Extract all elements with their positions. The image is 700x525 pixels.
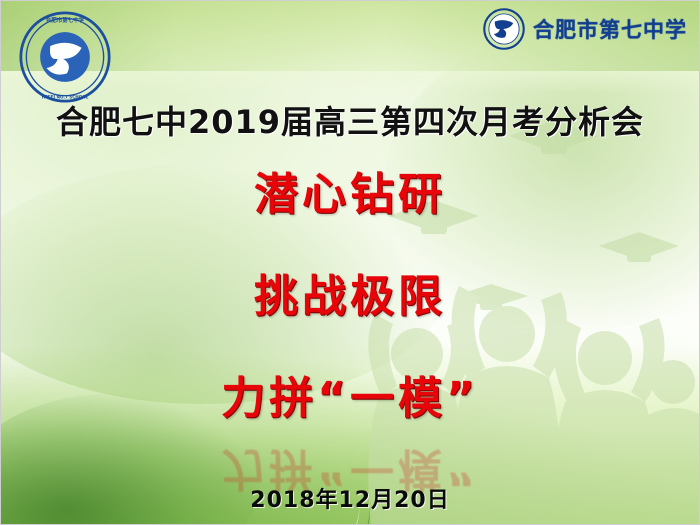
- school-badge: 合肥市第七中学: [483, 7, 687, 51]
- date-label: 2018年12月20日: [1, 482, 699, 514]
- school-badge-text: 合肥市第七中学: [533, 14, 687, 44]
- slogan-line-3: 力拼“一模”: [1, 377, 699, 421]
- presentation-slide: 合肥市第七中学 HEFEI NO.7 SCHOOL 合肥市第七中学 合肥七中20…: [0, 0, 700, 525]
- page-title: 合肥七中2019届高三第四次月考分析会: [1, 97, 699, 143]
- school-seal-emblem: 合肥市第七中学 HEFEI NO.7 SCHOOL: [19, 11, 111, 103]
- slogan-line-2: 挑战极限: [1, 275, 699, 319]
- school-badge-mark: [483, 8, 525, 50]
- slogan-block: 潜心钻研 挑战极限 力拼“一模”: [1, 153, 699, 421]
- svg-text:合肥市第七中学: 合肥市第七中学: [46, 16, 85, 24]
- slogan-line-1: 潜心钻研: [1, 173, 699, 217]
